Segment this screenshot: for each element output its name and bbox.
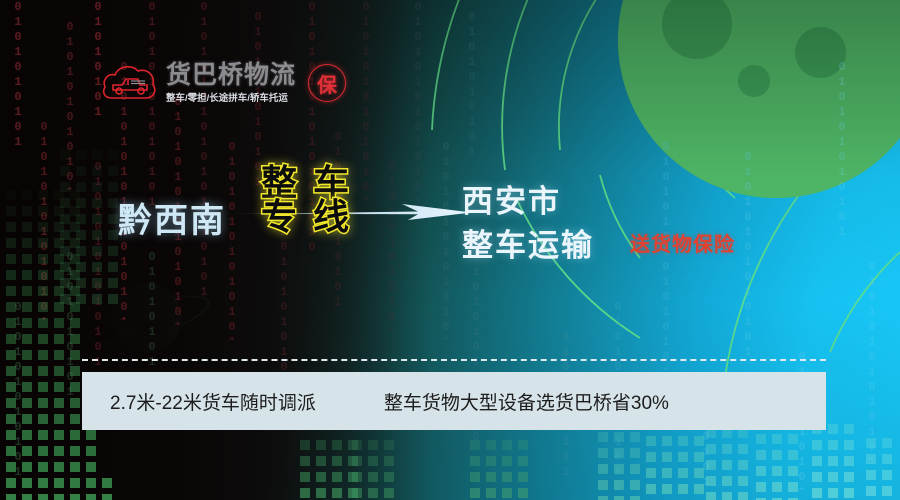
brand-name: 货巴桥物流 (166, 62, 296, 88)
destination-service: 整车运输 (462, 224, 594, 268)
insurance-note: 送货物保险 (630, 228, 735, 257)
route-char-2: 专 (253, 200, 305, 234)
brand-subtitle: 整车/零担/长途拼车/轿车托运 (166, 90, 296, 104)
route-char-3: 线 (305, 200, 357, 234)
poster-canvas: 0101010101010100101010101010101001010101… (0, 0, 900, 500)
cloud-truck-icon (100, 60, 158, 106)
destination-city: 西安市 (462, 180, 594, 224)
route-badge: 整 车 专 线 (253, 166, 357, 234)
dashed-divider (82, 359, 826, 361)
destination-block: 西安市 整车运输 (462, 180, 594, 268)
info-left-text: 2.7米-22米货车随时调派 (110, 388, 316, 415)
insurance-badge: 保 (308, 64, 346, 102)
info-right-text: 整车货物大型设备选货巴桥省30% (384, 388, 669, 415)
brand-logo[interactable]: 货巴桥物流 整车/零担/长途拼车/轿车托运 保 (100, 60, 346, 106)
origin-city: 黔西南 (118, 193, 226, 242)
info-bar: 2.7米-22米货车随时调派 整车货物大型设备选货巴桥省30% (82, 372, 826, 430)
